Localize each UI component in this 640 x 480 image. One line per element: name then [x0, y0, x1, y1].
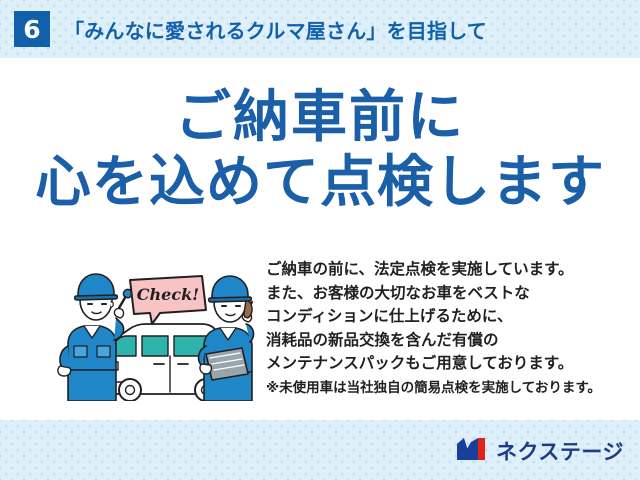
body-text: ご納車の前に、法定点検を実施しています。 また、お客様の大切なお車をベストな コ… [266, 258, 626, 399]
headline: ご納車前に 心を込めて点検します [0, 86, 640, 216]
headline-line-2: 心を込めて点検します [0, 150, 640, 216]
brand-name: ネクステージ [496, 436, 624, 466]
body-line-4: 消耗品の新品交換を含んだ有償の [266, 329, 626, 353]
check-bubble-label: Check! [137, 285, 199, 304]
mechanics-illustration-svg: Check! [56, 266, 261, 401]
body-line-2: また、お客様の大切なお車をベストな [266, 282, 626, 306]
advertisement-page: 6 「みんなに愛されるクルマ屋さん」を目指して ご納車前に 心を込めて点検します [0, 0, 640, 480]
body-note: ※未使用車は当社独自の簡易点検を実施しております。 [266, 377, 626, 399]
mechanics-illustration: Check! [56, 266, 261, 401]
body-line-1: ご納車の前に、法定点検を実施しています。 [266, 258, 626, 282]
body-line-3: コンディションに仕上げるために、 [266, 305, 626, 329]
nextage-n-mark-icon [455, 436, 489, 467]
brand-logo: ネクステージ [455, 436, 624, 466]
header-title: 「みんなに愛されるクルマ屋さん」を目指して [64, 15, 487, 44]
header: 6 「みんなに愛されるクルマ屋さん」を目指して [0, 0, 640, 58]
content-panel: ご納車前に 心を込めて点検します [0, 58, 640, 420]
body-line-5: メンテナンスパックもご用意しております。 [266, 352, 626, 376]
section-number-badge: 6 [14, 11, 50, 47]
mechanic-right [199, 276, 254, 401]
headline-line-1: ご納車前に [0, 86, 640, 150]
